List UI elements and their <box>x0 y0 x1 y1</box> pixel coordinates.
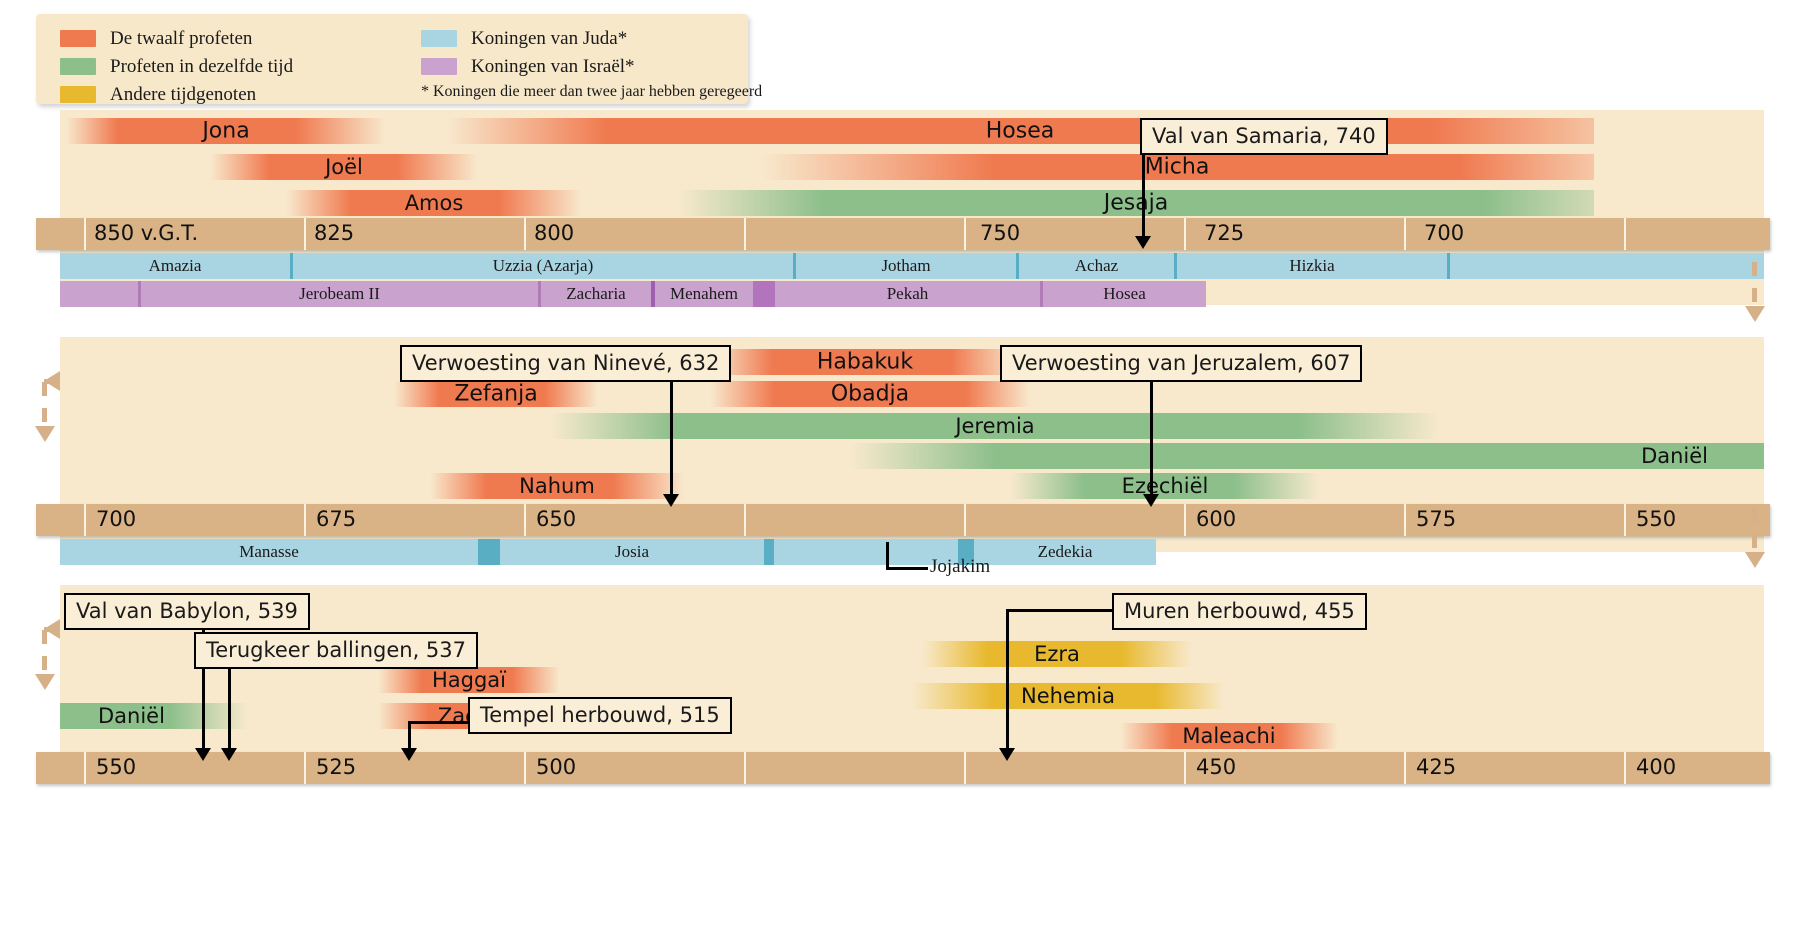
king-segment-unnamed <box>753 281 775 307</box>
axis-tick <box>524 752 526 784</box>
bar-label-obadja: Obadja <box>710 382 1030 407</box>
axis-tick <box>744 504 746 536</box>
callout-connector-line <box>1142 154 1145 239</box>
axis-tick-label-500: 500 <box>536 755 576 779</box>
legend-swatch-other-contemporaries <box>60 86 96 103</box>
callout-arrow-head <box>999 748 1015 761</box>
axis-panel-2: 700 675 650 600 575 550 <box>36 504 1770 536</box>
flow-connector-right-down-1 <box>1752 262 1757 308</box>
axis-tick <box>1184 218 1186 250</box>
legend-swatch-prophets <box>60 30 96 47</box>
bar-label-ezechiel: Ezechiël <box>1010 474 1320 498</box>
king-segment-josia: Josia <box>500 539 764 565</box>
axis-panel-3: 550 525 500 450 425 400 <box>36 752 1770 784</box>
axis-tick <box>1624 504 1626 536</box>
callout-val-van-babylon[interactable]: Val van Babylon, 539 <box>64 593 310 630</box>
bar-label-maleachi: Maleachi <box>1120 724 1338 748</box>
legend-label-prophets: De twaalf profeten <box>110 29 252 48</box>
king-segment-hosea: Hosea <box>1043 281 1206 307</box>
legend-item-contemporary-prophets: Profeten in dezelfde tijd <box>60 54 293 79</box>
axis-tick-label-550: 550 <box>96 755 136 779</box>
flow-arrow-down-3 <box>1745 552 1765 568</box>
bar-label-nahum: Nahum <box>430 474 684 498</box>
bar-obadja: Obadja <box>710 381 1030 407</box>
bar-micha: Micha <box>760 154 1594 180</box>
axis-tick-label-825: 825 <box>314 221 354 245</box>
axis-tick <box>964 752 966 784</box>
axis-tick <box>304 752 306 784</box>
axis-tick <box>1404 504 1406 536</box>
bar-joel: Joël <box>210 154 478 180</box>
axis-tick <box>1404 752 1406 784</box>
axis-tick <box>524 504 526 536</box>
king-divider <box>764 539 774 565</box>
bar-maleachi: Maleachi <box>1120 723 1338 749</box>
callout-connector-line <box>1150 381 1153 497</box>
callout-terugkeer-ballingen[interactable]: Terugkeer ballingen, 537 <box>194 632 478 669</box>
legend-swatch-contemporary-prophets <box>60 58 96 75</box>
axis-tick <box>1184 504 1186 536</box>
bar-label-daniel-panel2: Daniël <box>1641 444 1708 468</box>
callout-connector-line-h <box>1006 609 1116 612</box>
axis-tick-label-400: 400 <box>1636 755 1676 779</box>
king-segment-manasse: Manasse <box>60 539 478 565</box>
bar-label-jesaja: Jesaja <box>678 191 1594 216</box>
axis-tick-label-675: 675 <box>316 507 356 531</box>
legend-column-left: De twaalf profeten Profeten in dezelfde … <box>60 26 293 110</box>
leader-vertical-line <box>886 542 889 570</box>
axis-tick <box>84 504 86 536</box>
legend-item-prophets: De twaalf profeten <box>60 26 293 51</box>
king-segment-amazia: Amazia <box>60 253 290 279</box>
axis-tick <box>744 752 746 784</box>
king-segment-achaz: Achaz <box>1019 253 1174 279</box>
callout-verwoesting-jeruzalem[interactable]: Verwoesting van Jeruzalem, 607 <box>1000 345 1362 382</box>
flow-arrow-down-4 <box>35 674 55 690</box>
axis-tick-label-850: 850 v.G.T. <box>94 221 198 245</box>
legend-column-right: Koningen van Juda* Koningen van Israël* … <box>421 26 762 101</box>
legend-item-judah-kings: Koningen van Juda* <box>421 26 762 51</box>
axis-tick <box>964 504 966 536</box>
callout-verwoesting-ninev[interactable]: Verwoesting van Ninevé, 632 <box>400 345 731 382</box>
legend-item-other-contemporaries: Andere tijdgenoten <box>60 82 293 107</box>
bar-habakuk: Habakuk <box>710 349 1020 375</box>
axis-tick-label-700: 700 <box>1424 221 1464 245</box>
king-segment-menahem: Menahem <box>655 281 753 307</box>
legend-swatch-israel-kings <box>421 58 457 75</box>
king-segment-hizkia: Hizkia <box>1177 253 1447 279</box>
leader-label-jojakim: Jojakim <box>930 556 990 578</box>
axis-tick-label-650: 650 <box>536 507 576 531</box>
axis-tick-label-600: 600 <box>1196 507 1236 531</box>
bar-label-nehemia: Nehemia <box>912 684 1224 708</box>
callout-arrow-head <box>663 494 679 507</box>
bar-daniel-panel2: Daniël <box>850 443 1764 469</box>
callout-arrow-head <box>195 748 211 761</box>
legend-swatch-judah-kings <box>421 30 457 47</box>
callout-connector-line <box>408 723 411 751</box>
bar-label-jeremia: Jeremia <box>550 414 1440 438</box>
axis-tick-label-525: 525 <box>316 755 356 779</box>
legend-label-israel-kings: Koningen van Israël* <box>471 57 635 76</box>
axis-tick <box>1624 752 1626 784</box>
callout-connector-line <box>228 668 231 751</box>
bar-label-zefanja: Zefanja <box>394 382 598 407</box>
bar-hosea: Hosea <box>446 118 1594 144</box>
axis-tick <box>304 504 306 536</box>
axis-tick <box>304 218 306 250</box>
bar-haggai: Haggaï <box>378 667 560 693</box>
bar-label-habakuk: Habakuk <box>710 350 1020 375</box>
leader-horizontal-line <box>886 567 928 570</box>
bar-label-micha: Micha <box>760 155 1594 180</box>
axis-tick <box>1184 752 1186 784</box>
judah-kings-row-panel-1: Amazia Uzzia (Azarja) Jotham Achaz Hizki… <box>60 253 1764 279</box>
axis-panel-1: 850 v.G.T. 825 800 750 725 700 <box>36 218 1770 250</box>
timeline-panel-1: Jona Hosea Joël Micha Amos Jesaja 850 v.… <box>60 110 1764 305</box>
king-segment-uzzia: Uzzia (Azarja) <box>293 253 793 279</box>
axis-tick-label-425: 425 <box>1416 755 1456 779</box>
axis-tick <box>84 218 86 250</box>
callout-arrow-head <box>401 748 417 761</box>
axis-tick-label-450: 450 <box>1196 755 1236 779</box>
legend-item-israel-kings: Koningen van Israël* <box>421 54 762 79</box>
bar-jeremia: Jeremia <box>550 413 1440 439</box>
bar-label-amos: Amos <box>286 191 582 215</box>
axis-tick <box>964 218 966 250</box>
axis-tick <box>744 218 746 250</box>
timeline-panel-3: Ezra Nehemia Haggaï Daniël Zacharia Male… <box>60 585 1764 780</box>
bar-ezechiel: Ezechiël <box>1010 473 1320 499</box>
king-segment-jotham: Jotham <box>796 253 1016 279</box>
callout-muren-herbouwd[interactable]: Muren herbouwd, 455 <box>1112 593 1367 630</box>
legend: De twaalf profeten Profeten in dezelfde … <box>36 14 748 104</box>
bar-ezra: Ezra <box>922 641 1192 667</box>
axis-tick-label-575: 575 <box>1416 507 1456 531</box>
axis-tick <box>524 218 526 250</box>
axis-tick-label-550: 550 <box>1636 507 1676 531</box>
axis-tick-label-700: 700 <box>96 507 136 531</box>
callout-connector-line <box>670 381 673 497</box>
callout-arrow-head <box>1135 236 1151 249</box>
legend-label-other-contemporaries: Andere tijdgenoten <box>110 85 256 104</box>
bar-label-jona: Jona <box>66 119 386 144</box>
bar-zefanja: Zefanja <box>394 381 598 407</box>
flow-connector-right-down-2 <box>1752 508 1757 554</box>
callout-connector-line <box>1006 609 1009 751</box>
callout-tempel-herbouwd[interactable]: Tempel herbouwd, 515 <box>468 697 732 734</box>
flow-connector-left-down-1 <box>42 382 47 428</box>
king-segment-jerobeam-ii: Jerobeam II <box>141 281 538 307</box>
legend-label-judah-kings: Koningen van Juda* <box>471 29 627 48</box>
axis-tick <box>1624 218 1626 250</box>
callout-arrow-head <box>1143 494 1159 507</box>
bar-label-ezra: Ezra <box>922 642 1192 666</box>
axis-tick-label-725: 725 <box>1204 221 1244 245</box>
king-divider <box>478 539 500 565</box>
bar-label-haggai: Haggaï <box>378 668 560 692</box>
king-divider <box>1447 253 1450 279</box>
axis-tick-label-800: 800 <box>534 221 574 245</box>
legend-label-contemporary-prophets: Profeten in dezelfde tijd <box>110 57 293 76</box>
axis-tick <box>84 752 86 784</box>
bar-label-joel: Joël <box>210 155 478 179</box>
bar-jona: Jona <box>66 118 386 144</box>
callout-val-van-samaria[interactable]: Val van Samaria, 740 <box>1140 118 1388 155</box>
king-segment-zacharia: Zacharia <box>541 281 651 307</box>
bar-jesaja: Jesaja <box>678 190 1594 216</box>
king-leader-jojakim: Jojakim <box>886 542 1026 578</box>
bar-amos: Amos <box>286 190 582 216</box>
timeline-panel-2: Habakuk Zefanja Obadja Jeremia Daniël Na… <box>60 337 1764 552</box>
bar-label-daniel-panel3: Daniël <box>98 704 165 728</box>
bar-daniel-panel3: Daniël <box>60 703 248 729</box>
flow-arrow-down-2 <box>35 426 55 442</box>
axis-tick-label-750: 750 <box>980 221 1020 245</box>
callout-connector-line-h <box>408 721 470 724</box>
bar-nahum: Nahum <box>430 473 684 499</box>
israel-kings-row-panel-1: Jerobeam II Zacharia Menahem Pekah Hosea <box>60 281 1206 307</box>
bar-nehemia: Nehemia <box>912 683 1224 709</box>
axis-tick <box>1404 218 1406 250</box>
callout-arrow-head <box>221 748 237 761</box>
flow-connector-left-down-2 <box>42 630 47 676</box>
flow-arrow-down-1 <box>1745 306 1765 322</box>
legend-footnote: * Koningen die meer dan twee jaar hebben… <box>421 83 762 101</box>
bar-label-hosea: Hosea <box>446 119 1594 144</box>
king-segment-pekah: Pekah <box>775 281 1040 307</box>
